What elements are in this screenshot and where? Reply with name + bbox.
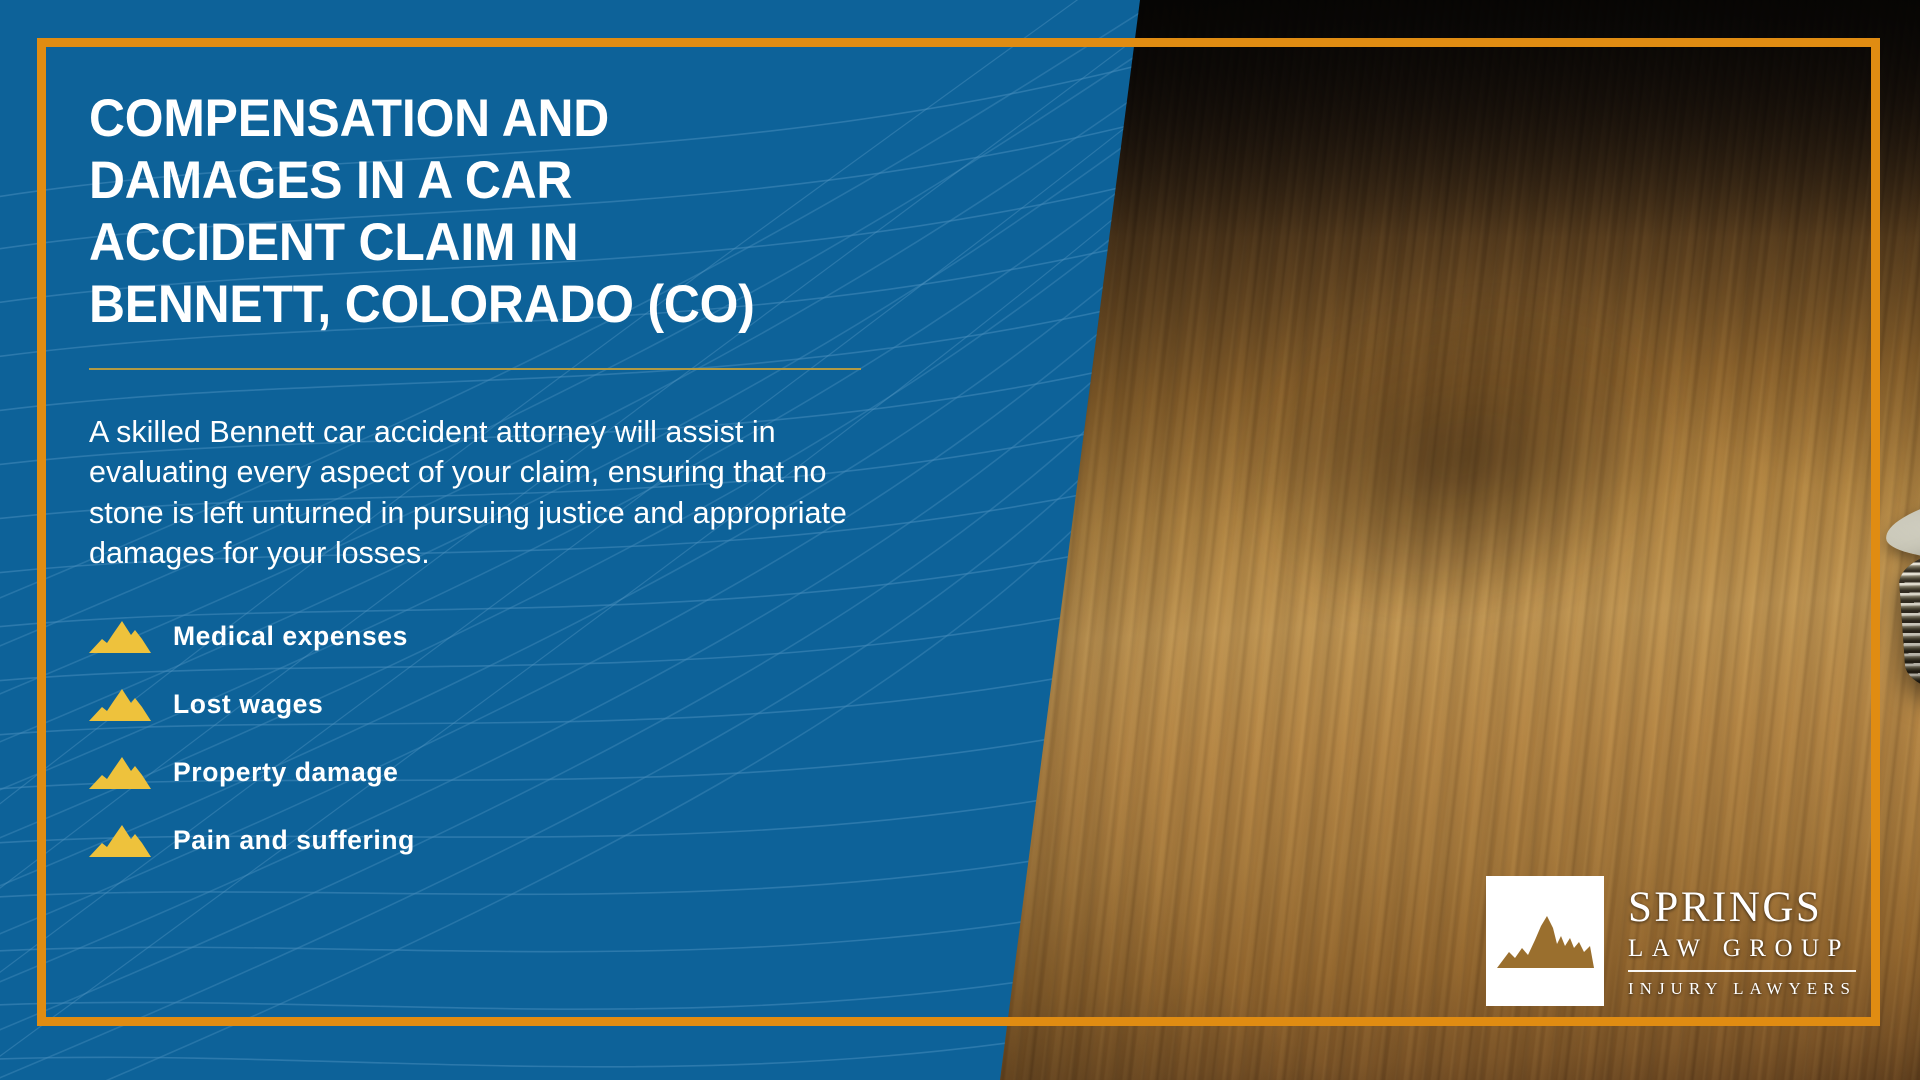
list-item: Property damage	[89, 745, 879, 799]
logo-wordmark: SPRINGS LAW GROUP INJURY LAWYERS	[1628, 876, 1856, 1006]
list-item-label: Medical expenses	[173, 621, 408, 652]
springs-law-group-logo[interactable]: SPRINGS LAW GROUP INJURY LAWYERS	[1486, 876, 1856, 1006]
damages-list: Medical expenses Lost wages Property dam…	[89, 609, 879, 867]
logo-divider	[1628, 970, 1856, 972]
page-title: COMPENSATION AND DAMAGES IN A CAR ACCIDE…	[89, 88, 832, 336]
list-item-label: Pain and suffering	[173, 825, 415, 856]
logo-subtitle: LAW GROUP	[1628, 936, 1856, 961]
poster-canvas: COMPENSATION AND DAMAGES IN A CAR ACCIDE…	[0, 0, 1920, 1080]
body-paragraph: A skilled Bennett car accident attorney …	[89, 412, 849, 573]
list-item-label: Property damage	[173, 757, 399, 788]
list-item: Lost wages	[89, 677, 879, 731]
logo-tagline: INJURY LAWYERS	[1628, 980, 1856, 997]
mountain-icon	[89, 619, 151, 653]
list-item-label: Lost wages	[173, 689, 323, 720]
content-block: COMPENSATION AND DAMAGES IN A CAR ACCIDE…	[89, 88, 879, 881]
mountain-icon	[89, 687, 151, 721]
logo-mark-box	[1486, 876, 1604, 1006]
title-divider	[89, 368, 861, 370]
mountain-range-logo-icon	[1495, 910, 1595, 972]
mountain-icon	[89, 755, 151, 789]
mountain-icon	[89, 823, 151, 857]
list-item: Medical expenses	[89, 609, 879, 663]
list-item: Pain and suffering	[89, 813, 879, 867]
logo-name: SPRINGS	[1628, 886, 1856, 929]
